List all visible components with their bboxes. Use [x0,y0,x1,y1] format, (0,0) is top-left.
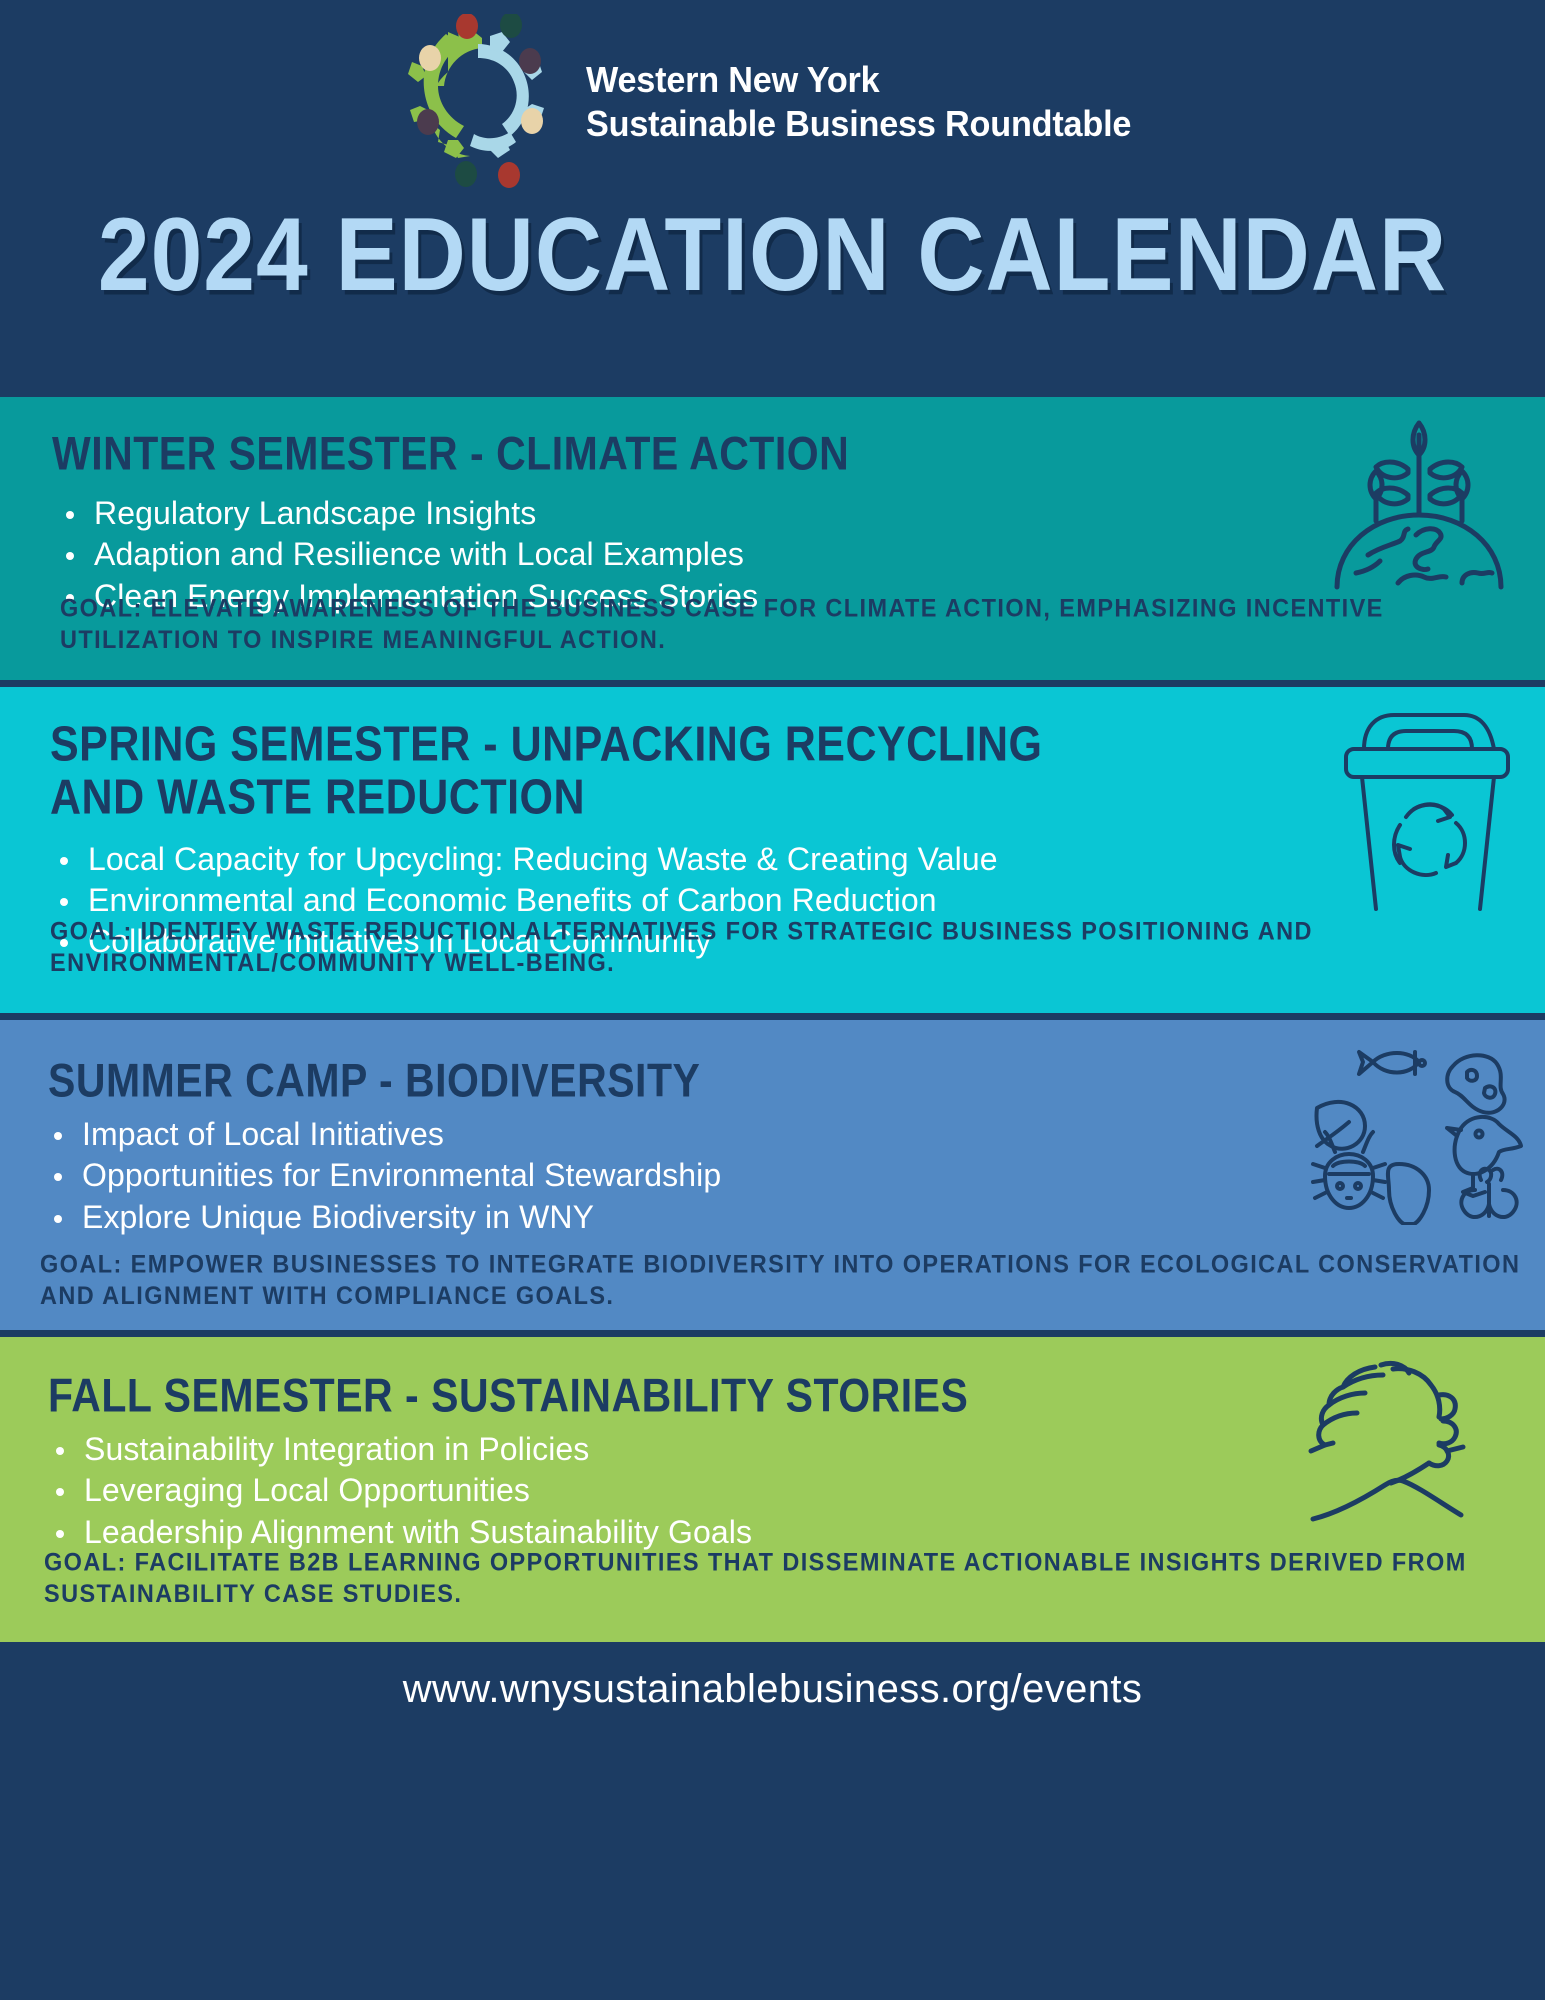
list-item: Explore Unique Biodiversity in WNY [50,1198,1545,1237]
section-goal-fall: GOAL: FACILITATE B2B LEARNING OPPORTUNIT… [44,1546,1527,1610]
section-goal-winter: GOAL: ELEVATE AWARENESS OF THE BUSINESS … [60,592,1527,656]
list-item: Impact of Local Initiatives [50,1115,1545,1154]
org-name: Western New York Sustainable Business Ro… [586,58,1131,146]
org-name-line2: Sustainable Business Roundtable [586,102,1131,146]
list-item: Adaption and Resilience with Local Examp… [62,535,1545,574]
section-winter: WINTER SEMESTER - CLIMATE ACTION Regulat… [0,390,1545,680]
section-goal-spring: GOAL: IDENTIFY WASTE REDUCTION ALTERNATI… [50,915,1527,979]
gear-people-logo-icon [386,14,576,189]
poster-footer: www.wnysustainablebusiness.org/events [0,1642,1545,1737]
section-fall: FALL SEMESTER - SUSTAINABILITY STORIES S… [0,1330,1545,1642]
website-url[interactable]: www.wnysustainablebusiness.org/events [403,1667,1143,1712]
section-title-spring: SPRING SEMESTER - UNPACKING RECYCLING AN… [50,719,1050,824]
section-title-winter: WINTER SEMESTER - CLIMATE ACTION [52,429,1052,479]
org-name-line1: Western New York [586,58,1131,102]
section-bullets-summer: Impact of Local Initiatives Opportunitie… [0,1115,1545,1236]
section-bullets-fall: Sustainability Integration in Policies L… [0,1430,1545,1551]
list-item: Regulatory Landscape Insights [62,494,1545,533]
section-spring: SPRING SEMESTER - UNPACKING RECYCLING AN… [0,680,1545,1013]
section-summer: SUMMER CAMP - BIODIVERSITY Impact of Loc… [0,1013,1545,1330]
section-title-fall: FALL SEMESTER - SUSTAINABILITY STORIES [48,1371,1048,1421]
poster-header: Western New York Sustainable Business Ro… [0,0,1545,390]
education-calendar-poster: Western New York Sustainable Business Ro… [0,0,1545,2000]
logo-row: Western New York Sustainable Business Ro… [0,0,1545,189]
list-item: Sustainability Integration in Policies [52,1430,1545,1469]
page-title: 2024 EDUCATION CALENDAR [0,195,1545,315]
section-title-summer: SUMMER CAMP - BIODIVERSITY [48,1056,1048,1106]
section-goal-summer: GOAL: EMPOWER BUSINESSES TO INTEGRATE BI… [40,1248,1527,1312]
list-item: Local Capacity for Upcycling: Reducing W… [56,840,1545,879]
list-item: Leveraging Local Opportunities [52,1471,1545,1510]
list-item: Opportunities for Environmental Stewards… [50,1156,1545,1195]
